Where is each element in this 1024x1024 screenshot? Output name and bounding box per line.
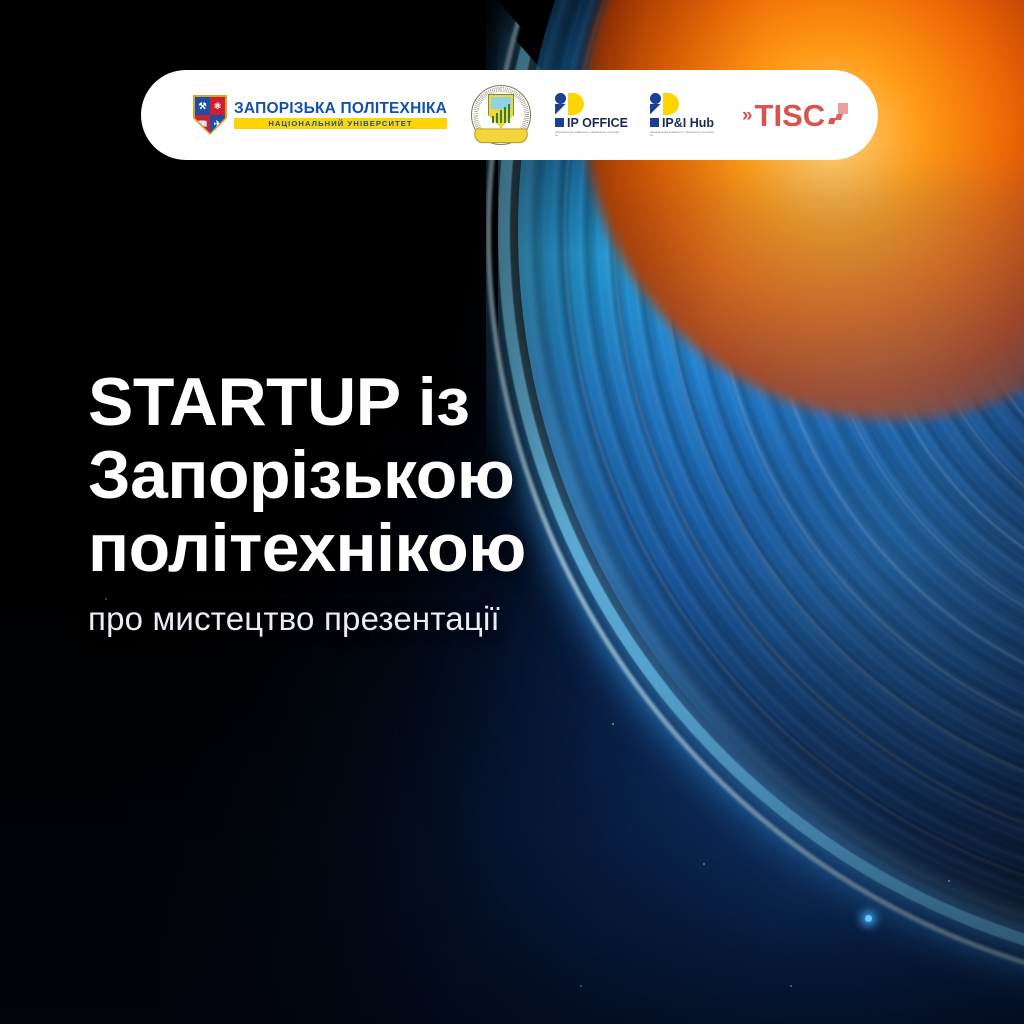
headline-line-2: Запорізькою (88, 439, 708, 512)
star-speck (948, 880, 950, 882)
logo-institute-emblem[interactable] (471, 85, 531, 145)
subtitle: про мистецтво презентації (88, 600, 708, 638)
crest-glyph-book: 📖 (197, 120, 208, 129)
ip-office-fine-print: Національний університет «Запорізька пол… (555, 131, 621, 137)
ip-hub-square-icon (650, 118, 659, 127)
bright-star (865, 915, 872, 922)
ip-office-title: IP OFFICE (567, 117, 628, 130)
star-speck (790, 985, 792, 987)
logo-ip-office[interactable]: IP OFFICE Національний університет «Запо… (555, 93, 628, 138)
star-speck (580, 985, 582, 987)
page-title: STARTUP із Запорізькою політехнікою (88, 366, 708, 584)
headline-line-1: STARTUP із (88, 366, 708, 439)
star-speck (703, 863, 705, 865)
poster-canvas: ⚒ ⚛ 📖 ✈ ЗАПОРІЗЬКА ПОЛІТЕХНІКА НАЦІОНАЛЬ… (0, 0, 1024, 1024)
logo-ip-and-i-hub[interactable]: IP&I Hub Національний університет «Запор… (650, 93, 716, 138)
crest-glyph-tools: ⚒ (198, 102, 206, 111)
partner-logo-bar: ⚒ ⚛ 📖 ✈ ЗАПОРІЗЬКА ПОЛІТЕХНІКА НАЦІОНАЛЬ… (141, 70, 878, 160)
logo-tisc[interactable]: » TISC (742, 100, 849, 131)
crest-glyph-wing: ✈ (214, 120, 222, 129)
double-chevron-right-icon: » (742, 106, 751, 125)
ip-office-square-icon (555, 118, 564, 127)
headline-line-3: політехнікою (88, 512, 708, 585)
headline-block: STARTUP із Запорізькою політехнікою про … (88, 366, 708, 638)
heraldic-shield-icon: ⚒ ⚛ 📖 ✈ (193, 95, 227, 135)
logo-zaporizhzhia-polytechnic[interactable]: ⚒ ⚛ 📖 ✈ ЗАПОРІЗЬКА ПОЛІТЕХНІКА НАЦІОНАЛЬ… (193, 95, 447, 135)
circular-shield-emblem-icon (471, 85, 531, 145)
ip-hub-mark-icon (650, 93, 680, 115)
ip-hub-fine-print: Національний університет «Запорізька пол… (650, 131, 716, 137)
crest-glyph-atom: ⚛ (213, 102, 221, 111)
arrow-pixels-icon (829, 103, 849, 127)
tisc-title: TISC (755, 100, 826, 131)
zp-title: ЗАПОРІЗЬКА ПОЛІТЕХНІКА (234, 101, 447, 117)
ip-hub-title: IP&I Hub (662, 117, 714, 130)
ip-office-mark-icon (555, 93, 585, 115)
zp-subtitle: НАЦІОНАЛЬНИЙ УНІВЕРСИТЕТ (234, 118, 447, 129)
star-speck (612, 723, 614, 725)
